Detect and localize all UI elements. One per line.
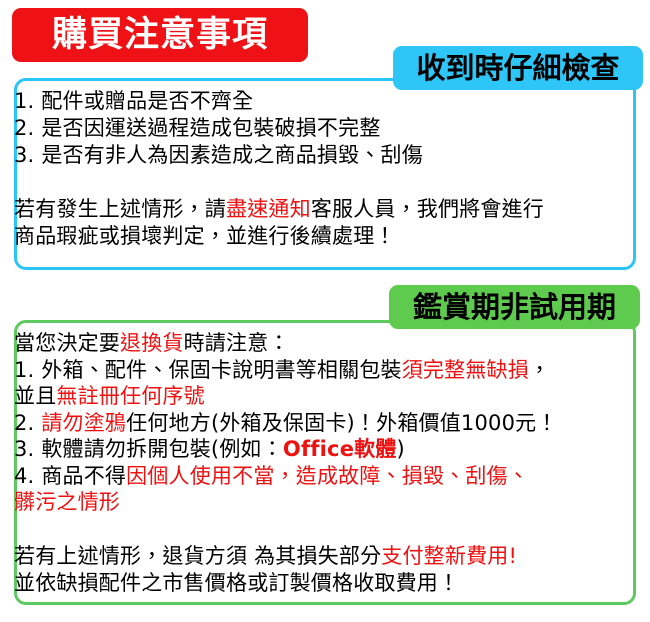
- list-item-text: 任何地方(外箱及保固卡)！外箱價值1000元！: [126, 411, 557, 435]
- inspection-note-highlight: 盡速通知: [226, 197, 311, 221]
- return-policy-note-highlight: 支付整新費用!: [381, 544, 517, 568]
- inspection-section-tab: 收到時仔細檢查: [393, 46, 643, 90]
- return-policy-note-line-1-part-1: 若有上述情形，退貨方須 為其損失部分: [14, 544, 381, 568]
- purchase-notice-banner: 購買注意事項: [12, 8, 308, 62]
- return-policy-content: 當您決定要退換貨時請注意： 1. 外箱、配件、保固卡說明書等相關包裝須完整無缺損…: [0, 330, 650, 516]
- list-item-number: 2.: [14, 116, 34, 140]
- banner-title: 購買注意事項: [52, 18, 268, 53]
- list-item-continuation-text: 並且: [14, 384, 56, 408]
- list-item-number: 1.: [14, 358, 34, 382]
- return-policy-note-line-1: 若有上述情形，退貨方須 為其損失部分支付整新費用!: [14, 543, 636, 570]
- list-item-continuation: 髒污之情形: [14, 489, 636, 516]
- list-item-highlight: 因個人使用不當，造成故障、損毀、刮傷、: [126, 464, 529, 488]
- list-item-number: 1.: [14, 89, 34, 113]
- return-policy-intro-part-1: 當您決定要: [14, 331, 120, 355]
- list-item-number: 4.: [14, 464, 34, 488]
- list-item: 2. 請勿塗鴉任何地方(外箱及保固卡)！外箱價值1000元！: [14, 410, 636, 437]
- list-item-text: 外箱、配件、保固卡說明書等相關包裝: [41, 358, 401, 382]
- list-item-continuation: 並且無註冊任何序號: [14, 383, 636, 410]
- return-policy-intro-part-2: 時請注意：: [184, 331, 290, 355]
- list-item-text-tail: ): [397, 437, 405, 461]
- list-item: 2. 是否因運送過程造成包裝破損不完整: [14, 115, 636, 142]
- list-item-highlight: 請勿塗鴉: [41, 411, 126, 435]
- list-item-number: 2.: [14, 411, 34, 435]
- inspection-note-line-1-part-2: 客服人員，我們將會進行: [311, 197, 544, 221]
- list-item-text: 商品不得: [41, 464, 126, 488]
- inspection-section-tab-label: 收到時仔細檢查: [416, 54, 619, 83]
- return-policy-intro-highlight: 退換貨: [120, 331, 184, 355]
- inspection-note: 若有發生上述情形，請盡速通知客服人員，我們將會進行 商品瑕疵或損壞判定，並進行後…: [0, 196, 650, 250]
- return-policy-intro: 當您決定要退換貨時請注意：: [14, 330, 636, 357]
- return-policy-section-tab-label: 鑑賞期非試用期: [413, 293, 616, 322]
- return-policy-note: 若有上述情形，退貨方須 為其損失部分支付整新費用! 並依缺損配件之市售價格或訂製…: [0, 543, 650, 597]
- list-item-text: 配件或贈品是否不齊全: [41, 89, 253, 113]
- inspection-checklist: 1. 配件或贈品是否不齊全 2. 是否因運送過程造成包裝破損不完整 3. 是否有…: [0, 88, 650, 169]
- list-item-number: 3.: [14, 437, 34, 461]
- list-item: 3. 是否有非人為因素造成之商品損毀、刮傷: [14, 142, 636, 169]
- list-item: 1. 外箱、配件、保固卡說明書等相關包裝須完整無缺損，: [14, 357, 636, 384]
- list-item-text: 是否因運送過程造成包裝破損不完整: [41, 116, 380, 140]
- list-item: 3. 軟體請勿拆開包裝(例如：Office軟體): [14, 436, 636, 463]
- inspection-note-line-2: 商品瑕疵或損壞判定，並進行後續處理！: [14, 223, 636, 250]
- list-item-number: 3.: [14, 143, 34, 167]
- inspection-note-line-1: 若有發生上述情形，請盡速通知客服人員，我們將會進行: [14, 196, 636, 223]
- return-policy-note-line-2: 並依缺損配件之市售價格或訂製價格收取費用！: [14, 570, 636, 597]
- list-item-text: 是否有非人為因素造成之商品損毀、刮傷: [41, 143, 423, 167]
- inspection-note-line-1-part-1: 若有發生上述情形，請: [14, 197, 226, 221]
- list-item: 4. 商品不得因個人使用不當，造成故障、損毀、刮傷、: [14, 463, 636, 490]
- list-item: 1. 配件或贈品是否不齊全: [14, 88, 636, 115]
- list-item-continuation-highlight: 無註冊任何序號: [56, 384, 204, 408]
- list-item-continuation-highlight: 髒污之情形: [14, 490, 120, 514]
- list-item-highlight: Office軟體: [283, 437, 397, 461]
- list-item-highlight: 須完整無缺損: [402, 358, 529, 382]
- return-policy-section-tab: 鑑賞期非試用期: [389, 285, 640, 329]
- list-item-text-tail: ，: [529, 358, 550, 382]
- list-item-text: 軟體請勿拆開包裝(例如：: [41, 437, 283, 461]
